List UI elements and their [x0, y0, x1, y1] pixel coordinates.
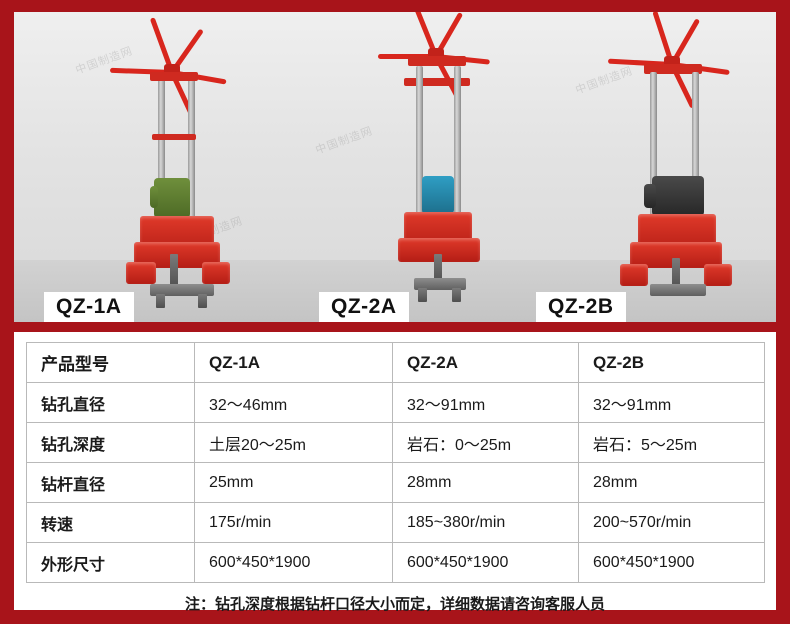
electric-motor [154, 178, 190, 218]
header-cell-qz-2a: QZ-2A [393, 343, 579, 383]
row-value: 土层20～25m [195, 423, 393, 463]
row-value: 25mm [195, 463, 393, 503]
row-value: 600*450*1900 [579, 543, 765, 583]
drill-bit-tooth [156, 294, 165, 308]
model-label-qz-1a: QZ-1A [44, 292, 134, 322]
row-value: 32～91mm [393, 383, 579, 423]
row-value: 岩石：0～25m [393, 423, 579, 463]
specification-table: 产品型号 QZ-1A QZ-2A QZ-2B 钻孔直径 32～46mm 32～9… [26, 342, 765, 583]
drill-bit-tooth [418, 288, 427, 302]
row-value: 32～91mm [579, 383, 765, 423]
row-label: 钻孔直径 [27, 383, 195, 423]
model-label-qz-2a: QZ-2A [319, 292, 409, 322]
table-row: 外形尺寸 600*450*1900 600*450*1900 600*450*1… [27, 543, 765, 583]
table-row: 钻孔深度 土层20～25m 岩石：0～25m 岩石：5～25m [27, 423, 765, 463]
header-cell-model: 产品型号 [27, 343, 195, 383]
product-photo-panel: 中国制造网 中国制造网 中国制造网 中国制造网 中国制造网 [14, 12, 776, 322]
drill-rig-qz-2a [364, 26, 524, 316]
mid-crossbar [152, 134, 196, 140]
drill-rig-qz-2b [594, 26, 764, 316]
table-footnote: 注：钻孔深度根据钻杆口径大小而定，详细数据请咨询客服人员 [26, 593, 764, 614]
table-row: 转速 175r/min 185~380r/min 200~570r/min [27, 503, 765, 543]
top-crossbar [150, 72, 198, 81]
row-value: 600*450*1900 [195, 543, 393, 583]
row-value: 岩石：5～25m [579, 423, 765, 463]
row-label: 钻孔深度 [27, 423, 195, 463]
electric-motor [422, 176, 454, 214]
table-header-row: 产品型号 QZ-1A QZ-2A QZ-2B [27, 343, 765, 383]
support-leg-left [126, 262, 156, 284]
row-label: 转速 [27, 503, 195, 543]
row-value: 185~380r/min [393, 503, 579, 543]
drill-bit-tooth [198, 294, 207, 308]
table-row: 钻杆直径 25mm 28mm 28mm [27, 463, 765, 503]
row-value: 200~570r/min [579, 503, 765, 543]
gasoline-engine [652, 176, 704, 216]
drill-bit-tooth [452, 288, 461, 302]
model-label-qz-2b: QZ-2B [536, 292, 626, 322]
drill-rig-qz-1a [110, 26, 290, 316]
drill-bit-plate [650, 284, 706, 296]
row-label: 外形尺寸 [27, 543, 195, 583]
support-leg-left [620, 264, 648, 286]
row-value: 175r/min [195, 503, 393, 543]
top-crossbar [408, 56, 466, 66]
row-value: 600*450*1900 [393, 543, 579, 583]
support-leg-right [202, 262, 230, 284]
row-value: 28mm [393, 463, 579, 503]
table-row: 钻孔直径 32～46mm 32～91mm 32～91mm [27, 383, 765, 423]
header-cell-qz-1a: QZ-1A [195, 343, 393, 383]
spec-table-panel: 产品型号 QZ-1A QZ-2A QZ-2B 钻孔直径 32～46mm 32～9… [14, 332, 776, 610]
header-cell-qz-2b: QZ-2B [579, 343, 765, 383]
product-spec-page: 中国制造网 中国制造网 中国制造网 中国制造网 中国制造网 [0, 0, 790, 624]
row-label: 钻杆直径 [27, 463, 195, 503]
motor-housing-end [150, 186, 158, 208]
support-leg-right [704, 264, 732, 286]
engine-air-filter [644, 184, 656, 208]
row-value: 32～46mm [195, 383, 393, 423]
row-value: 28mm [579, 463, 765, 503]
